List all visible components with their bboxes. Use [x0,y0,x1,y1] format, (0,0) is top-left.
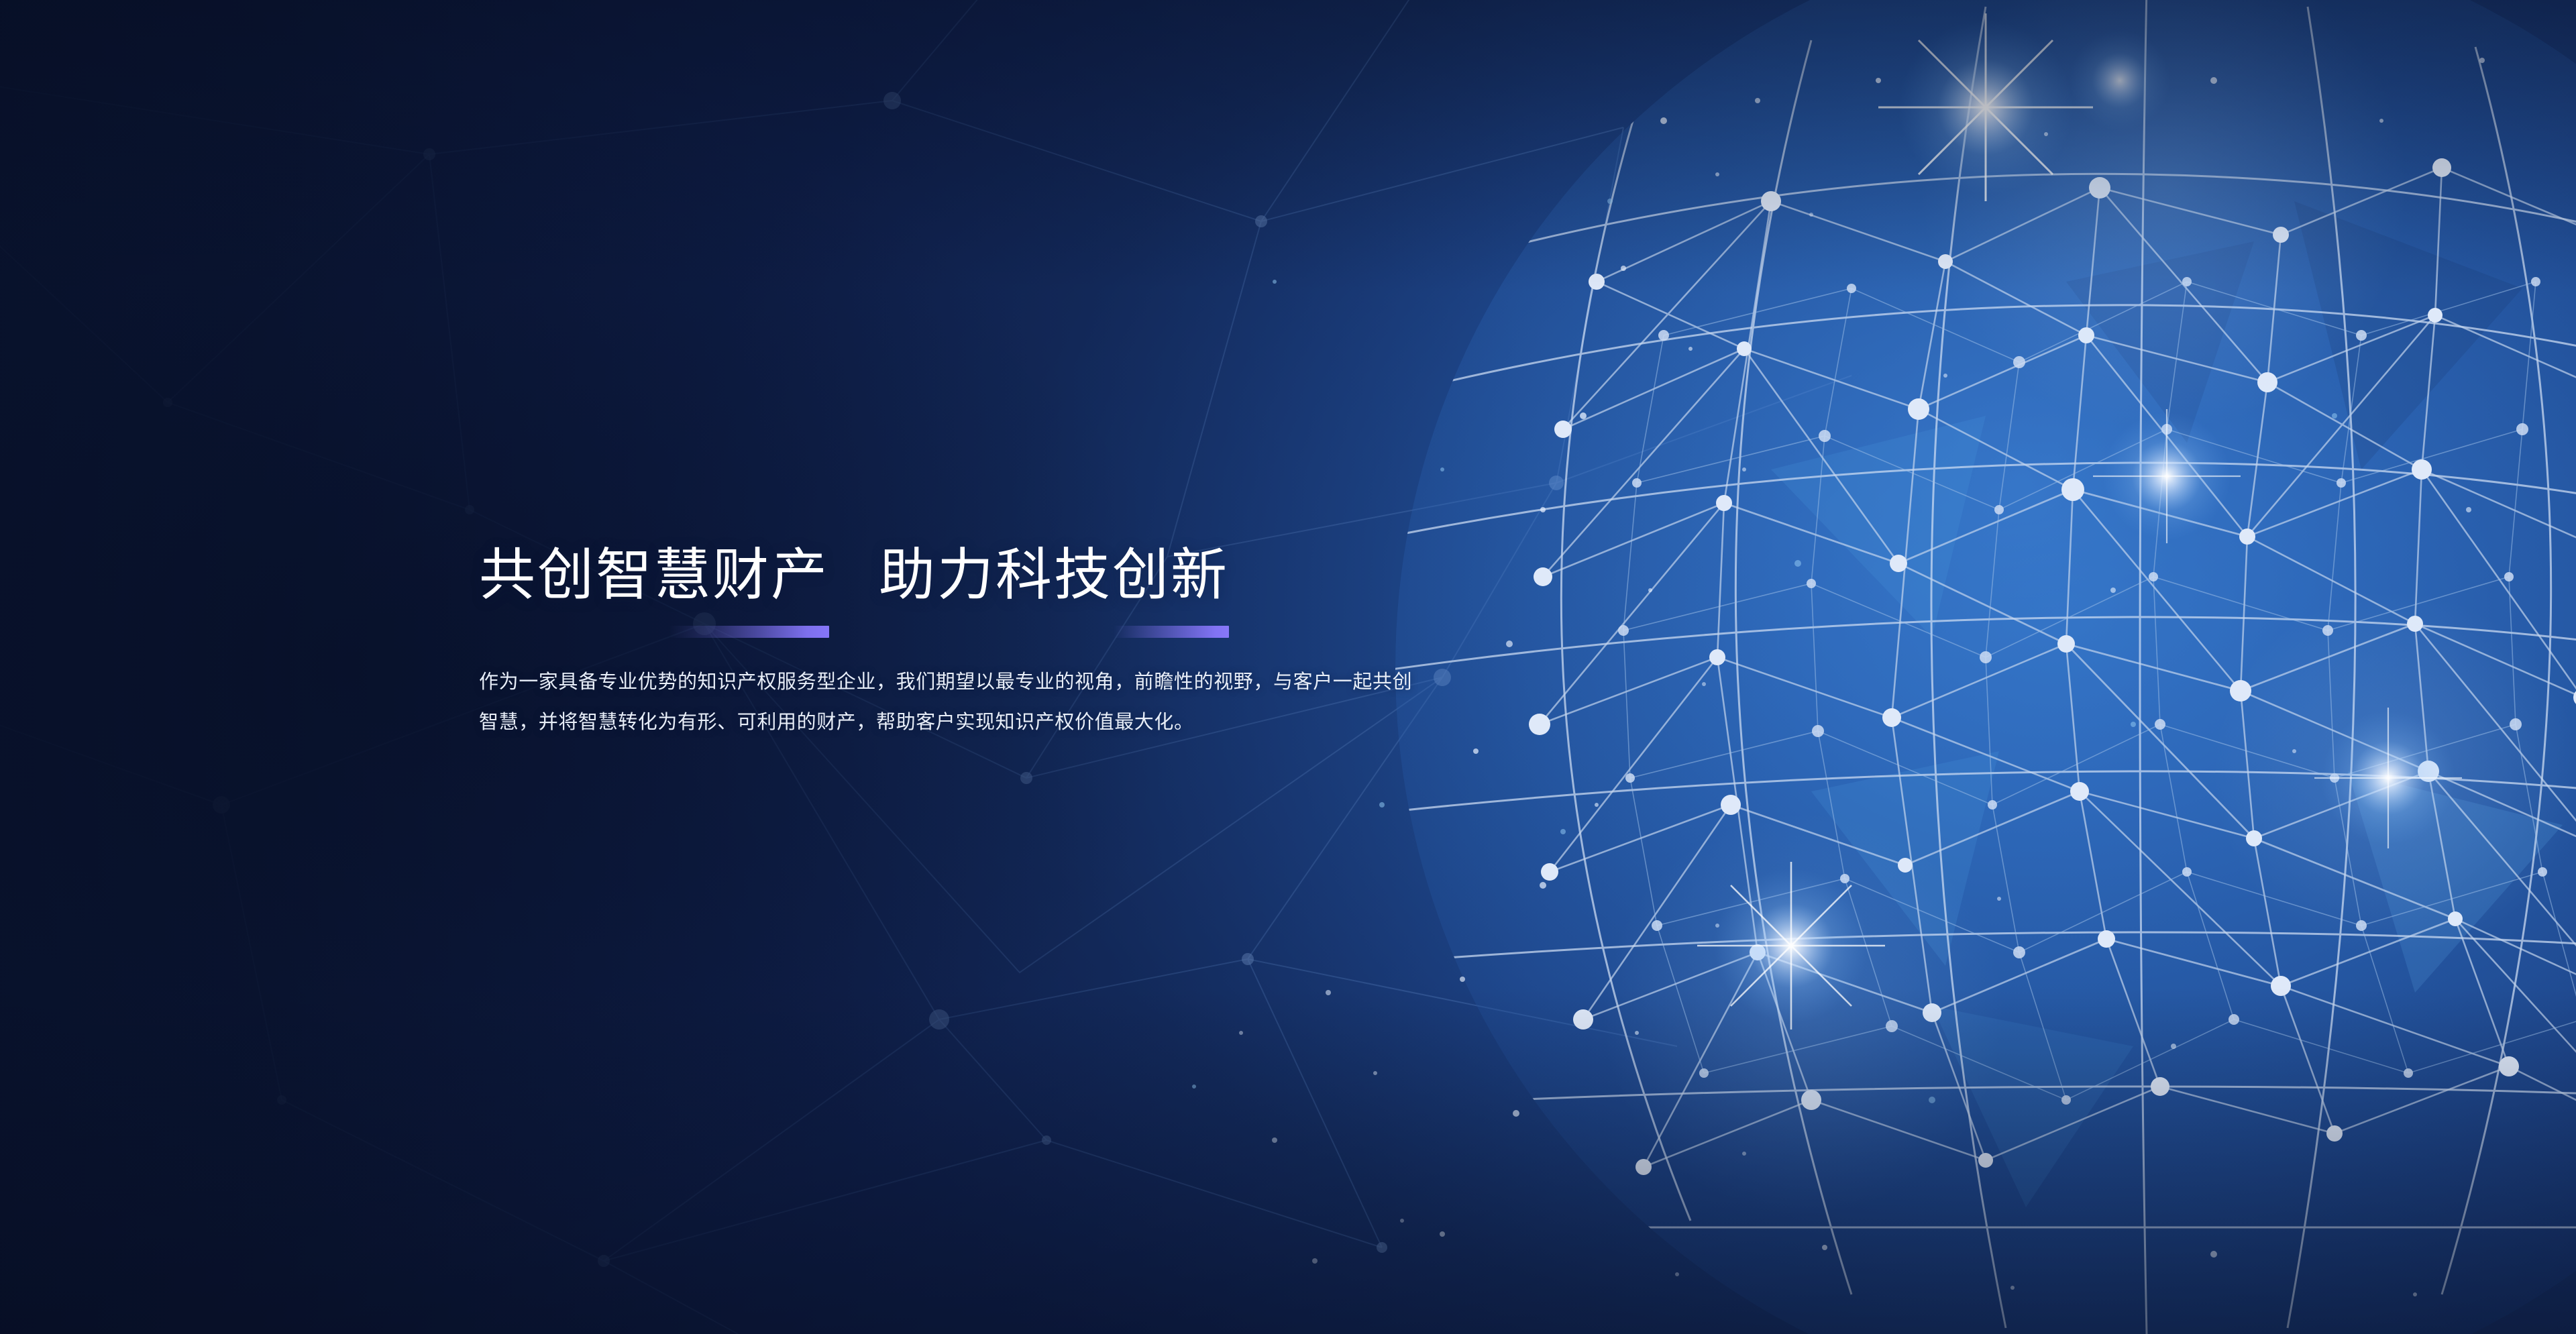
hero-banner: 共创智慧财产 助力科技创新 作为一家具备专业优势的知识产权服务型企业，我们期望以… [0,0,2576,1334]
hero-headline: 共创智慧财产 助力科技创新 [479,545,1472,606]
headline-phrase-2: 助力科技创新 [879,545,1229,606]
headline-accent-bar-1 [669,626,829,638]
hero-copy-block: 共创智慧财产 助力科技创新 作为一家具备专业优势的知识产权服务型企业，我们期望以… [479,545,1472,742]
headline-phrase-1-group: 共创智慧财产 [479,545,829,606]
headline-phrase-1: 共创智慧财产 [479,545,829,606]
headline-accent-bar-2 [1114,626,1229,638]
headline-phrase-2-group: 助力科技创新 [879,545,1229,606]
hero-body-text: 作为一家具备专业优势的知识产权服务型企业，我们期望以最专业的视角，前瞻性的视野，… [479,662,1432,743]
